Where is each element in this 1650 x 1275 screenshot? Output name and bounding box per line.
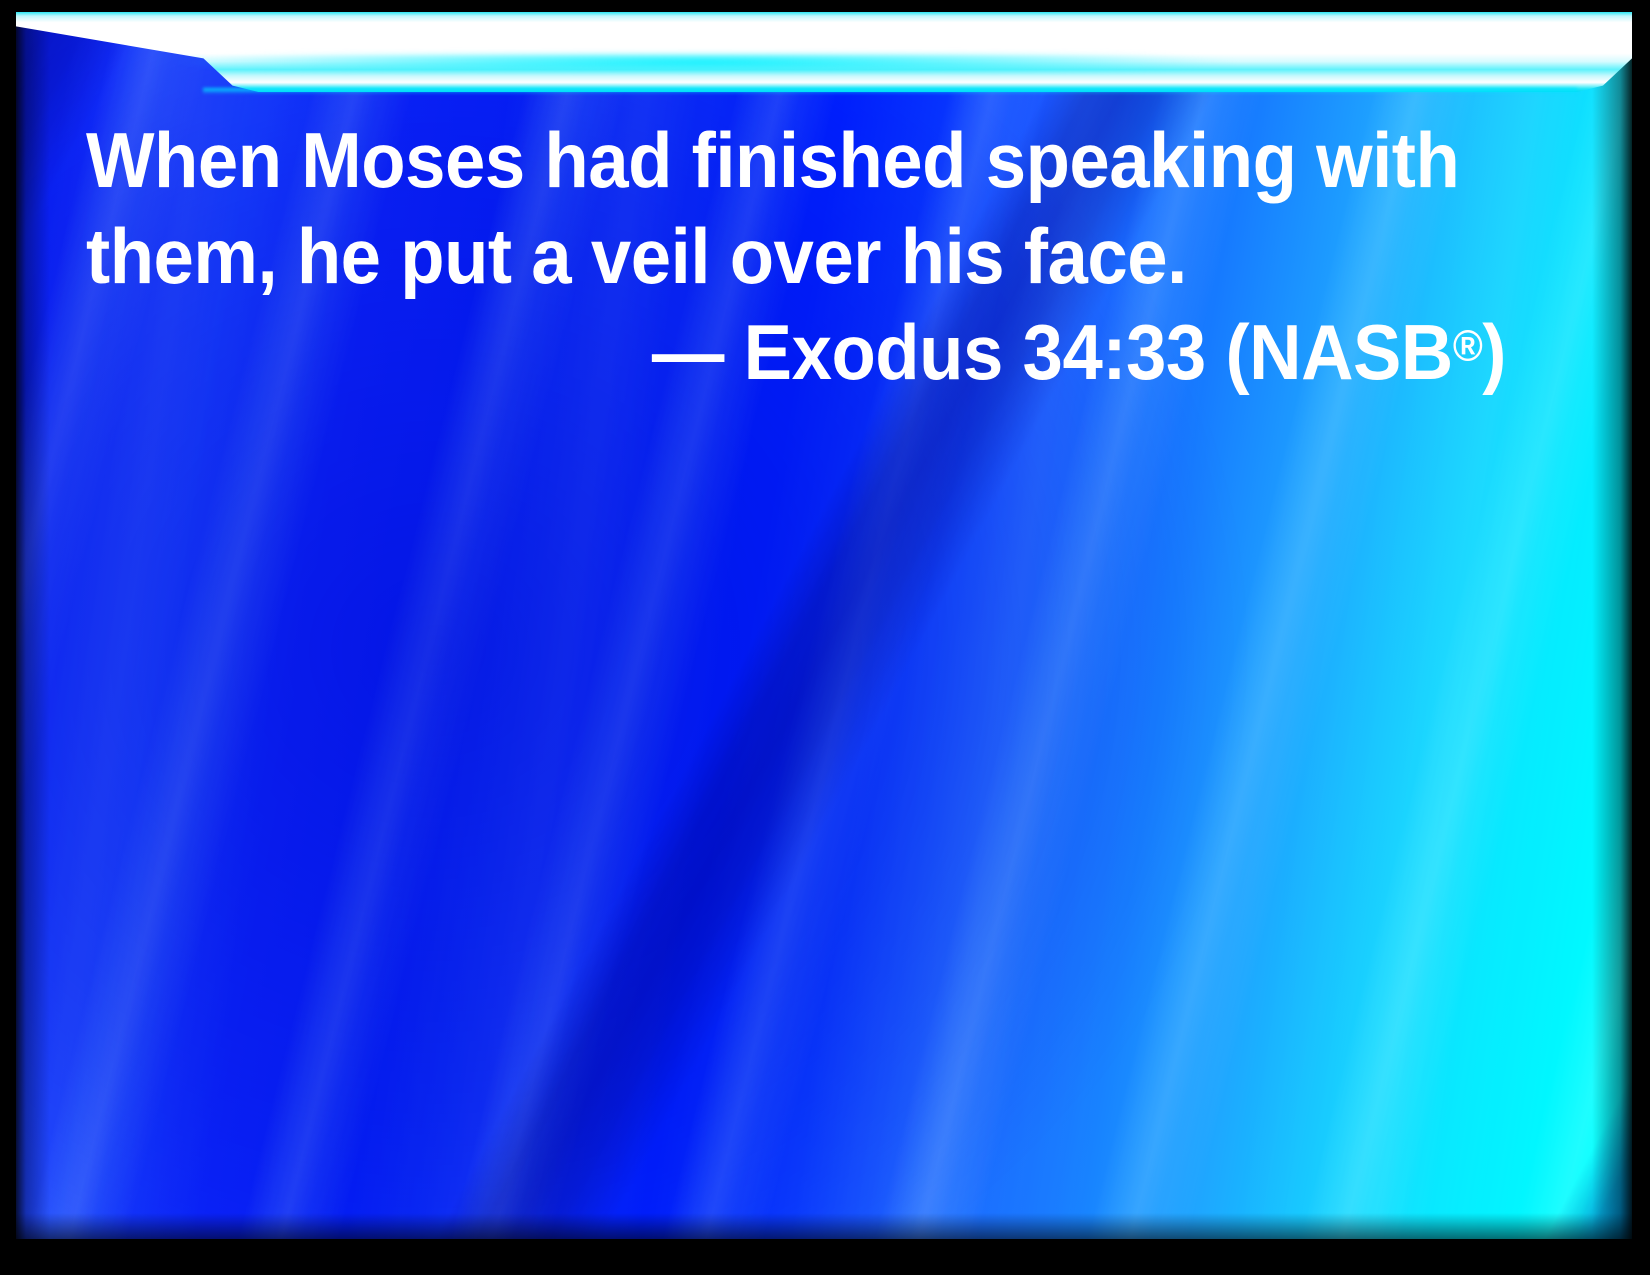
verse-line-2: them, he put a veil over his face.: [86, 208, 1407, 304]
scripture-verse-slide: When Moses had finished speaking with th…: [0, 0, 1650, 1275]
registered-trademark-icon: ®: [1453, 322, 1482, 371]
attribution-suffix: ): [1482, 308, 1506, 396]
verse-text-block: When Moses had finished speaking with th…: [86, 112, 1506, 400]
attribution-prefix: — Exodus 34:33 (NASB: [652, 308, 1453, 396]
verse-attribution: — Exodus 34:33 (NASB®): [185, 304, 1506, 400]
verse-line-1: When Moses had finished speaking with: [86, 112, 1407, 208]
